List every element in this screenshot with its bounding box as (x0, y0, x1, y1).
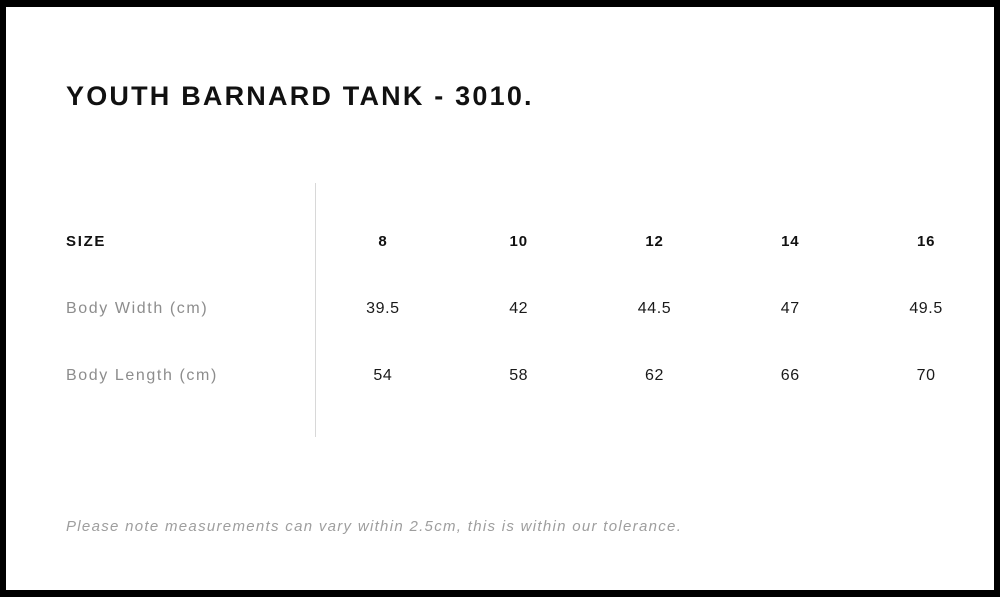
body-width-cell: 49.5 (858, 292, 994, 326)
size-chart-card: YOUTH BARNARD TANK - 3010. SIZE 8 10 12 … (6, 7, 994, 590)
body-length-cell: 54 (315, 359, 451, 393)
size-header-cell: 12 (587, 225, 723, 259)
body-width-cell: 42 (451, 292, 587, 326)
table-row: Body Width (cm) 39.5 42 44.5 47 49.5 (6, 292, 994, 359)
page-title: YOUTH BARNARD TANK - 3010. (66, 81, 534, 112)
body-width-cell: 39.5 (315, 292, 451, 326)
body-length-cell: 70 (858, 359, 994, 393)
row-label-body-length: Body Length (cm) (66, 359, 218, 393)
size-header-cell: 16 (858, 225, 994, 259)
body-length-cell: 66 (722, 359, 858, 393)
body-width-cells: 39.5 42 44.5 47 49.5 (315, 292, 994, 326)
body-length-cells: 54 58 62 66 70 (315, 359, 994, 393)
table-row: Body Length (cm) 54 58 62 66 70 (6, 359, 994, 426)
body-length-cell: 62 (587, 359, 723, 393)
size-chart-page: YOUTH BARNARD TANK - 3010. SIZE 8 10 12 … (0, 0, 1000, 597)
tolerance-note: Please note measurements can vary within… (66, 518, 682, 535)
size-header-cell: 10 (451, 225, 587, 259)
table-header-label: SIZE (66, 225, 106, 259)
body-width-cell: 47 (722, 292, 858, 326)
size-header-cells: 8 10 12 14 16 (315, 225, 994, 259)
table-header-row: SIZE 8 10 12 14 16 (6, 225, 994, 292)
size-header-cell: 14 (722, 225, 858, 259)
body-width-cell: 44.5 (587, 292, 723, 326)
size-header-cell: 8 (315, 225, 451, 259)
size-chart-table: SIZE 8 10 12 14 16 Body Width (cm) 39.5 … (6, 225, 994, 426)
frame-border-bottom (0, 590, 1000, 597)
row-label-body-width: Body Width (cm) (66, 292, 208, 326)
body-length-cell: 58 (451, 359, 587, 393)
frame-border-top (0, 0, 1000, 7)
frame-border-right (994, 0, 1000, 597)
